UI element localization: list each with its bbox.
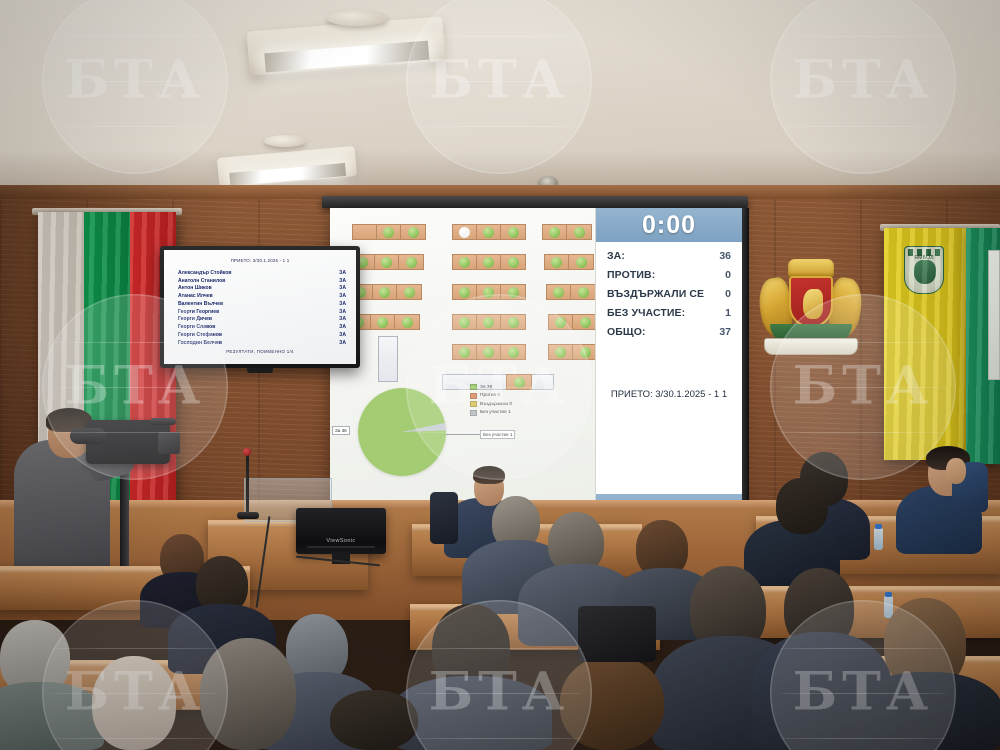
roll-call-name: Александър Стойков xyxy=(178,270,231,278)
pie-callout-bez-uchastie: Без участие 1 xyxy=(480,430,515,439)
desk-block xyxy=(452,224,526,240)
seat-row xyxy=(548,344,598,360)
seat-cell xyxy=(501,285,525,299)
seat-cell xyxy=(453,285,477,299)
roll-call-name: Валентин Вълчев xyxy=(178,301,231,309)
legend-item: За 36 xyxy=(470,384,512,390)
roll-call-vote: ЗА xyxy=(339,324,346,332)
vote-led xyxy=(377,317,388,328)
vote-led xyxy=(555,347,566,358)
roll-call-name: Атанас Илчев xyxy=(178,293,231,301)
result-value: 36 xyxy=(719,250,731,262)
vote-timer: 0:00 xyxy=(642,211,696,240)
seat-cell xyxy=(377,225,401,239)
vote-led xyxy=(379,287,390,298)
monitor-stand xyxy=(247,368,273,373)
seat-cell xyxy=(569,255,593,269)
seat-cell xyxy=(373,285,397,299)
audience-body-13 xyxy=(852,672,1000,750)
projection-left-pane: За 36 Без участие 1 За 36 Против 0 Въздъ… xyxy=(330,208,595,520)
seat-cell xyxy=(401,225,425,239)
vote-results-list: ЗА: 36 ПРОТИВ: 0 ВЪЗДЪРЖАЛИ СЕ 0 БЕЗ УЧА… xyxy=(596,250,742,345)
vote-led xyxy=(576,257,587,268)
roll-call-footer: РЕЗУЛТАТИ, ПОИМЕННО 1/4 xyxy=(164,349,356,354)
roll-call-name: Георги Славов xyxy=(178,324,231,332)
vote-led xyxy=(549,227,560,238)
seat-cell xyxy=(477,255,501,269)
seat-cell xyxy=(453,345,477,359)
vote-timer-bar: 0:00 xyxy=(596,208,742,242)
desk-block xyxy=(548,314,598,330)
vote-led xyxy=(406,257,417,268)
vote-verdict: ПРИЕТО: 3/30.1.2025 - 1 1 xyxy=(596,388,742,402)
seat-cell xyxy=(353,225,377,239)
flag-folds xyxy=(884,228,966,460)
seat-cell xyxy=(571,285,595,299)
seat-cell xyxy=(399,255,423,269)
vote-led xyxy=(408,227,419,238)
wall-sign-right xyxy=(988,250,1000,380)
seat-row xyxy=(546,284,596,300)
audience-head-14 xyxy=(560,656,664,750)
seat-row xyxy=(452,344,526,360)
vote-led xyxy=(574,227,585,238)
seat-row xyxy=(350,254,424,270)
seat-cell xyxy=(573,345,597,359)
result-label: БЕЗ УЧАСТИЕ: xyxy=(607,307,685,319)
result-value: 37 xyxy=(719,326,731,338)
shield-lion xyxy=(803,289,823,319)
legend-swatch-bez-uchastie xyxy=(470,410,477,416)
desk-block xyxy=(452,314,526,330)
desk-block xyxy=(544,254,594,270)
vote-led xyxy=(483,347,494,358)
seat-cell xyxy=(453,255,477,269)
pie-graphic xyxy=(358,388,446,476)
seat-cell xyxy=(567,225,591,239)
legend-label: Без участие 1 xyxy=(480,410,511,415)
result-label: ЗА: xyxy=(607,250,625,262)
roll-call-vote-list: ЗА ЗА ЗА ЗА ЗА ЗА ЗА ЗА ЗА ЗА xyxy=(339,270,346,347)
vote-led xyxy=(483,287,494,298)
roll-call-vote: ЗА xyxy=(339,285,346,293)
vote-led xyxy=(553,287,564,298)
projector-screen-housing xyxy=(322,196,748,208)
desk-block xyxy=(546,284,596,300)
seat-cell xyxy=(545,255,569,269)
vote-led xyxy=(383,227,394,238)
vote-led xyxy=(508,287,519,298)
seat-cell xyxy=(573,315,597,329)
result-row-vazdarzhali: ВЪЗДЪРЖАЛИ СЕ 0 xyxy=(607,288,731,300)
official-head-right-3 xyxy=(776,478,828,534)
seat-row xyxy=(452,254,526,270)
seat-row xyxy=(452,224,526,240)
roll-call-name: Георги Дичев xyxy=(178,316,231,324)
seat-cell xyxy=(371,315,395,329)
bottle-cap xyxy=(885,592,892,597)
seat-row xyxy=(548,314,598,330)
seat-cell xyxy=(501,315,525,329)
vote-led xyxy=(551,257,562,268)
microphone-head-lectern xyxy=(243,448,251,456)
roll-call-vote: ЗА xyxy=(339,301,346,309)
result-label: ПРОТИВ: xyxy=(607,269,655,281)
vote-led xyxy=(459,347,470,358)
audience-head-15 xyxy=(330,690,418,750)
seat-cell xyxy=(375,255,399,269)
legend-item: Против 0 xyxy=(470,393,512,399)
desk-block xyxy=(452,254,526,270)
vote-led xyxy=(404,287,415,298)
water-bottle-2 xyxy=(874,528,883,550)
smoke-detector-2 xyxy=(264,135,306,147)
seat-cell xyxy=(501,225,525,239)
camera-lens-icon xyxy=(70,428,106,444)
briefcase xyxy=(578,606,656,662)
projection-results-pane: 0:00 ЗА: 36 ПРОТИВ: 0 ВЪЗДЪРЖАЛИ СЕ 0 БЕ… xyxy=(595,208,742,520)
legend-label: Въздържали 0 xyxy=(480,402,512,407)
microphone-stem-lectern xyxy=(246,452,249,518)
seat-row xyxy=(352,224,426,240)
audience-body-4 xyxy=(0,682,104,750)
seat-row xyxy=(452,314,526,330)
camera-microphone-icon xyxy=(150,418,176,425)
monitor-vent xyxy=(307,546,375,548)
seat-row xyxy=(542,224,592,240)
legend-label: Против 0 xyxy=(480,393,500,398)
vote-led xyxy=(483,317,494,328)
vote-led xyxy=(580,347,591,358)
legend-swatch-vazdarzhali xyxy=(470,401,477,407)
seat-cell xyxy=(477,225,501,239)
legend-swatch-protiv xyxy=(470,393,477,399)
legend-label: За 36 xyxy=(480,385,492,390)
seat-cell xyxy=(395,315,419,329)
result-row-protiv: ПРОТИВ: 0 xyxy=(607,269,731,281)
bottle-cap xyxy=(875,524,882,529)
roll-call-vote: ЗА xyxy=(339,332,346,340)
roll-call-vote: ЗА xyxy=(339,340,346,348)
vote-led xyxy=(402,317,413,328)
microphone-base-lectern xyxy=(237,512,259,519)
vote-pie-chart: За 36 Без участие 1 За 36 Против 0 Въздъ… xyxy=(330,376,595,520)
official-hand-right-1 xyxy=(946,458,966,484)
seat-cell xyxy=(397,285,421,299)
vote-led xyxy=(459,317,470,328)
seat-row xyxy=(452,284,526,300)
result-row-za: ЗА: 36 xyxy=(607,250,731,262)
council-chamber-photo: ЯМБОЛ xyxy=(0,0,1000,750)
roll-call-name: Анатолн Станилов xyxy=(178,278,231,286)
vote-led xyxy=(459,257,470,268)
vote-led xyxy=(508,227,519,238)
seat-cell xyxy=(453,225,477,239)
vote-led xyxy=(578,287,589,298)
chair-back xyxy=(430,492,458,544)
projector-screen-edge xyxy=(742,208,749,520)
desk-block xyxy=(352,224,426,240)
desk-block xyxy=(542,224,592,240)
monitor-brand-label: ViewSonic xyxy=(296,538,386,544)
audience-head-5 xyxy=(92,656,176,750)
roll-call-vote: ЗА xyxy=(339,270,346,278)
seat-cell xyxy=(543,225,567,239)
seat-cell xyxy=(501,345,525,359)
legend-item: Без участие 1 xyxy=(470,410,512,416)
vote-led xyxy=(580,317,591,328)
desk-block xyxy=(548,344,598,360)
seat-cell xyxy=(501,255,525,269)
pie-legend: За 36 Против 0 Въздържали 0 Без участие … xyxy=(470,384,512,418)
coat-of-arms-bulgaria xyxy=(756,258,866,366)
roll-call-name-list: Александър Стойков Анатолн Станилов Анто… xyxy=(178,270,231,347)
roll-call-header: ПРИЕТО: 3/30.1.2025 - 1 1 xyxy=(164,258,356,263)
seat-cell xyxy=(547,285,571,299)
vote-led xyxy=(555,317,566,328)
seat-cell xyxy=(549,345,573,359)
camera-viewfinder-icon xyxy=(158,432,180,454)
vote-led-no-participation xyxy=(459,227,470,238)
seat-cell xyxy=(453,315,477,329)
municipal-flag-yambol: ЯМБОЛ xyxy=(884,228,966,460)
seat-row xyxy=(544,254,594,270)
vote-led xyxy=(508,257,519,268)
vote-led xyxy=(508,317,519,328)
vote-led xyxy=(359,227,370,238)
vote-led xyxy=(381,257,392,268)
roll-call-name: Георги Георгиев xyxy=(178,309,231,317)
seat-cell xyxy=(477,345,501,359)
desk-block xyxy=(350,254,424,270)
roll-call-vote: ЗА xyxy=(339,309,346,317)
result-value: 1 xyxy=(725,307,731,319)
vote-led xyxy=(483,257,494,268)
speaker-hair xyxy=(473,466,505,484)
desk-block xyxy=(452,284,526,300)
pie-leader-line xyxy=(446,434,482,435)
seat-cell xyxy=(477,285,501,299)
roll-call-name: Антон Шиков xyxy=(178,285,231,293)
result-row-bez-uchastie: БЕЗ УЧАСТИЕ: 1 xyxy=(607,307,731,319)
roll-call-vote: ЗА xyxy=(339,278,346,286)
crown xyxy=(788,259,834,277)
roll-call-screen: ПРИЕТО: 3/30.1.2025 - 1 1 Александър Сто… xyxy=(164,250,356,364)
roll-call-display: ПРИЕТО: 3/30.1.2025 - 1 1 Александър Сто… xyxy=(160,246,360,368)
roll-call-name: Господин Белчев xyxy=(178,340,231,348)
vote-led xyxy=(508,347,519,358)
motto-ribbon xyxy=(764,338,858,355)
roll-call-vote: ЗА xyxy=(339,316,346,324)
roll-call-vote: ЗА xyxy=(339,293,346,301)
projection-screen: За 36 Без участие 1 За 36 Против 0 Въздъ… xyxy=(330,208,742,520)
legend-item: Въздържали 0 xyxy=(470,401,512,407)
result-row-obshto: ОБЩО: 37 xyxy=(607,326,731,338)
pie-callout-za: За 36 xyxy=(332,426,350,435)
vote-led xyxy=(483,227,494,238)
smoke-detector-1 xyxy=(326,10,388,26)
audience-head-6 xyxy=(200,638,296,750)
podium-monitor: ViewSonic xyxy=(296,508,386,554)
seat-cell xyxy=(549,315,573,329)
result-value: 0 xyxy=(725,288,731,300)
desk-block xyxy=(452,344,526,360)
vote-led xyxy=(459,287,470,298)
shield xyxy=(789,276,833,328)
result-label: ВЪЗДЪРЖАЛИ СЕ xyxy=(607,288,704,300)
seat-cell xyxy=(477,315,501,329)
roll-call-name: Георги Стефанов xyxy=(178,332,231,340)
result-value: 0 xyxy=(725,269,731,281)
legend-swatch-za xyxy=(470,384,477,390)
desk-lip xyxy=(738,588,1000,593)
result-label: ОБЩО: xyxy=(607,326,646,338)
